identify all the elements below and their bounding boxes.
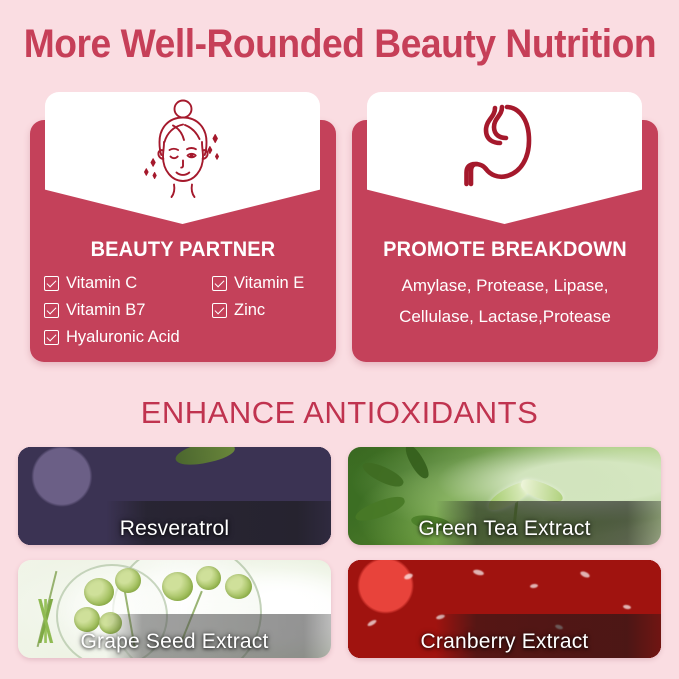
woman-face-winking-icon — [45, 98, 320, 202]
checked-checkbox-icon — [44, 303, 59, 318]
list-item-label: Vitamin C — [66, 274, 137, 293]
card-envelope-flap — [367, 92, 642, 224]
tile-caption: Resveratrol — [18, 517, 331, 541]
tile-resveratrol: Resveratrol — [18, 447, 331, 545]
list-item: Vitamin E — [212, 274, 326, 293]
stomach-icon — [367, 98, 642, 194]
berry-highlight — [404, 572, 414, 580]
checked-checkbox-icon — [44, 330, 59, 345]
card-promote-breakdown: PROMOTE BREAKDOWN Amylase, Protease, Lip… — [352, 120, 658, 362]
antioxidant-tiles-grid: Resveratrol Green Tea Extract — [18, 447, 661, 671]
green-grape — [84, 578, 114, 606]
berry-highlight — [529, 583, 537, 588]
section-title-antioxidants: ENHANCE ANTIOXIDANTS — [0, 395, 679, 431]
list-item: Zinc — [212, 301, 326, 320]
list-item-label: Vitamin E — [234, 274, 304, 293]
list-item-label: Zinc — [234, 301, 265, 320]
green-grape — [225, 574, 252, 599]
berry-highlight — [473, 569, 485, 577]
list-item-label: Hyaluronic Acid — [66, 328, 180, 347]
checked-checkbox-icon — [44, 276, 59, 291]
enzyme-line: Amylase, Protease, Lipase, — [362, 270, 648, 301]
beauty-ingredient-checklist: Vitamin C Vitamin E Vitamin B7 Zinc Hyal… — [44, 270, 326, 351]
list-item: Hyaluronic Acid — [44, 328, 212, 347]
berry-highlight — [366, 619, 377, 627]
list-item-label: Vitamin B7 — [66, 301, 146, 320]
enzyme-list: Amylase, Protease, Lipase, Cellulase, La… — [362, 270, 648, 332]
feature-cards-row: BEAUTY PARTNER Vitamin C Vitamin E Vitam… — [0, 84, 679, 384]
checked-checkbox-icon — [212, 303, 227, 318]
grape-leaf-accent — [173, 447, 236, 470]
list-item: Vitamin C — [44, 274, 212, 293]
checked-checkbox-icon — [212, 276, 227, 291]
tile-grape-seed-extract: Grape Seed Extract — [18, 560, 331, 658]
card-beauty-partner: BEAUTY PARTNER Vitamin C Vitamin E Vitam… — [30, 120, 336, 362]
tile-green-tea-extract: Green Tea Extract — [348, 447, 661, 545]
tile-caption: Green Tea Extract — [348, 517, 661, 541]
list-item: Vitamin B7 — [44, 301, 212, 320]
berry-highlight — [623, 604, 632, 609]
tile-caption: Grape Seed Extract — [18, 630, 331, 654]
card-title: PROMOTE BREAKDOWN — [360, 238, 651, 262]
tile-cranberry-extract: Cranberry Extract — [348, 560, 661, 658]
tea-leaf — [402, 447, 431, 481]
berry-highlight — [579, 570, 590, 579]
card-envelope-flap — [45, 92, 320, 224]
green-grape — [162, 572, 193, 601]
page-title: More Well-Rounded Beauty Nutrition — [24, 22, 655, 67]
green-grape — [115, 568, 141, 593]
tea-leaf — [360, 457, 406, 491]
tile-caption: Cranberry Extract — [348, 630, 661, 654]
card-title: BEAUTY PARTNER — [38, 238, 329, 262]
enzyme-line: Cellulase, Lactase,Protease — [362, 301, 648, 332]
infographic-page: More Well-Rounded Beauty Nutrition — [0, 0, 679, 679]
